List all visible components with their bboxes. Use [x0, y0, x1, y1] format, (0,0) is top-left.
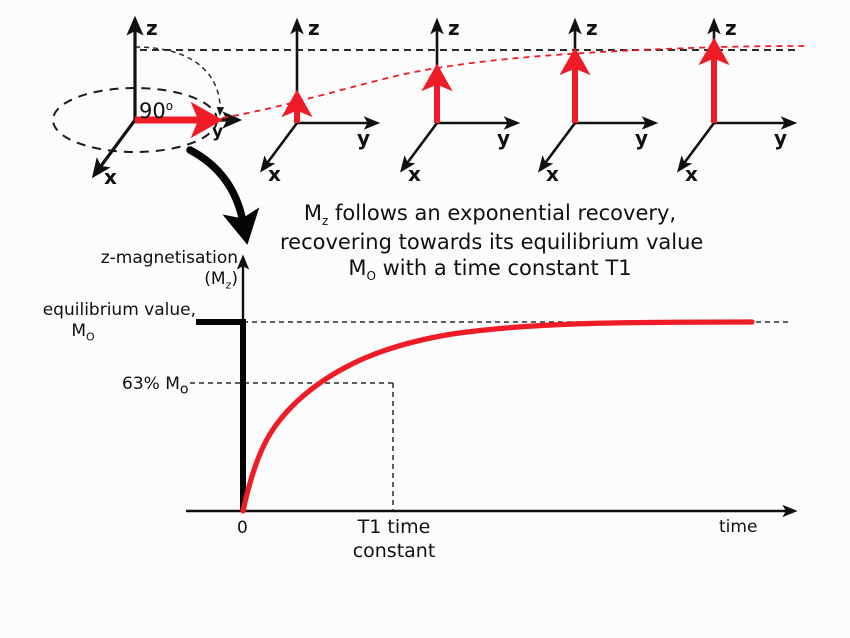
- flip-angle-value: 90: [139, 99, 166, 123]
- t1-label-line1: T1 time: [330, 516, 458, 540]
- plot-y-axis-label-line2: (Mz): [60, 269, 238, 292]
- equilibrium-label-line2: MO: [28, 321, 196, 344]
- equilibrium-m: M: [71, 321, 86, 341]
- panel5-z-label: z: [725, 16, 737, 41]
- panel5-x-label: x: [685, 162, 698, 187]
- panel-4: [543, 26, 650, 166]
- panel2-z-label: z: [308, 16, 320, 41]
- panel3-z-label: z: [448, 16, 460, 41]
- panel2-x-axis: [265, 123, 297, 166]
- panel-3: [405, 26, 512, 166]
- panel3-x-label: x: [408, 162, 421, 187]
- panel1-x-label: x: [104, 165, 117, 190]
- caption-m0-m: M: [348, 256, 366, 280]
- caption-line-3: MO with a time constant T1: [280, 255, 700, 284]
- caption-line1-rest: follows an exponential recovery,: [328, 201, 676, 225]
- caption-line3-rest: with a time constant T1: [376, 256, 632, 280]
- exponential-recovery-curve: [243, 322, 752, 511]
- plot-ylabel-open: (M: [204, 269, 225, 289]
- equilibrium-value-label: equilibrium value, MO: [28, 300, 196, 344]
- recovery-plot: [186, 262, 790, 511]
- panel2-x-label: x: [268, 162, 281, 187]
- caption-mz-m: M: [304, 201, 322, 225]
- t1-time-constant-label: T1 time constant: [330, 516, 458, 564]
- sixty-three-text: 63% M: [122, 374, 180, 394]
- degree-symbol: o: [166, 99, 173, 113]
- sixty-three-percent-label: 63% Mo: [122, 374, 189, 399]
- panel2-y-label: y: [357, 126, 370, 151]
- plot-x-axis-label: time: [719, 517, 757, 538]
- sixty-three-sub: o: [180, 381, 189, 397]
- origin-tick-label: 0: [237, 518, 248, 539]
- panel4-z-label: z: [586, 16, 598, 41]
- t1-label-line2: constant: [330, 540, 458, 564]
- panel4-x-label: x: [546, 162, 559, 187]
- figure-canvas: z y x z y x z y x z y x z y x 90o Mz fol…: [0, 0, 850, 638]
- recovery-guide-curve: [222, 46, 806, 118]
- caption-text: Mz follows an exponential recovery, reco…: [280, 200, 700, 285]
- equilibrium-sub: O: [86, 331, 95, 344]
- plot-y-axis-label: z-magnetisation (Mz): [60, 248, 238, 292]
- panel4-y-label: y: [635, 126, 648, 151]
- plot-y-axis-label-line1: z-magnetisation: [60, 248, 238, 269]
- panel5-y-label: y: [774, 126, 787, 151]
- panel5-x-axis: [682, 123, 714, 166]
- panel1-x-axis: [98, 120, 135, 170]
- plot-ylabel-close: ): [231, 269, 238, 289]
- panel1-y-label: y: [212, 122, 223, 143]
- flip-angle-label: 90o: [139, 98, 173, 124]
- panel1-z-label: z: [146, 16, 158, 41]
- panel3-y-label: y: [497, 126, 510, 151]
- connector-arrow: [190, 150, 243, 222]
- caption-line-2: recovering towards its equilibrium value: [280, 229, 700, 255]
- caption-m0-sub: O: [366, 270, 375, 284]
- equilibrium-label-line1: equilibrium value,: [28, 300, 196, 321]
- panel4-x-axis: [543, 123, 575, 166]
- caption-line-1: Mz follows an exponential recovery,: [280, 200, 700, 229]
- panel3-x-axis: [405, 123, 437, 166]
